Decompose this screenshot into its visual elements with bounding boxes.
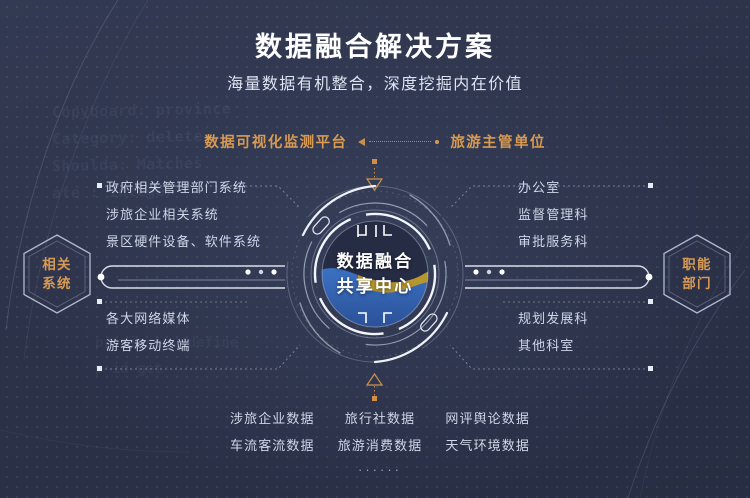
visualization-platform-label[interactable]: 数据可视化监测平台 [204, 131, 347, 152]
grid-cell[interactable]: 涉旅企业数据 [230, 405, 315, 432]
left-hexagon-node[interactable]: 相关 系统 [20, 232, 94, 316]
grid-cell[interactable]: 车流客流数据 [230, 432, 315, 459]
list-item[interactable]: 涉旅企业相关系统 [106, 201, 261, 228]
grid-cell[interactable]: 天气环境数据 [445, 432, 530, 459]
endpoint-dot-icon [435, 140, 439, 144]
list-item[interactable]: 游客移动终端 [106, 332, 191, 359]
list-item[interactable]: 各大网络媒体 [106, 305, 191, 332]
left-arrow-icon [358, 138, 365, 146]
hex-line-2: 部门 [682, 274, 711, 293]
grid-cell[interactable]: 旅行社数据 [345, 405, 416, 432]
list-item[interactable]: 监督管理科 [518, 201, 589, 228]
code-line: Copyboard: province [52, 93, 352, 126]
table-row: 车流客流数据 旅游消费数据 天气环境数据 [230, 432, 530, 459]
right-hexagon-text: 职能 部门 [660, 232, 734, 316]
center-line-2: 共享中心 [337, 274, 414, 299]
grid-cell[interactable]: 网评舆论数据 [445, 405, 530, 432]
grid-ellipsis: ······ [230, 462, 530, 477]
left-top-source-list: 政府相关管理部门系统 涉旅企业相关系统 景区硬件设备、软件系统 [106, 174, 261, 255]
list-item[interactable]: 办公室 [518, 174, 589, 201]
bottom-data-grid: 涉旅企业数据 旅行社数据 网评舆论数据 车流客流数据 旅游消费数据 天气环境数据… [230, 405, 530, 477]
infographic-canvas: Copyboard: province Category: delete, Sh… [0, 0, 750, 498]
dotted-line [369, 141, 431, 142]
list-item[interactable]: 规划发展科 [518, 305, 589, 332]
list-item[interactable]: 审批服务科 [518, 228, 589, 255]
page-subtitle: 海量数据有机整合，深度挖掘内在价值 [0, 70, 750, 94]
left-hexagon-text: 相关 系统 [20, 232, 94, 316]
top-connector [358, 138, 439, 146]
left-bottom-source-list: 各大网络媒体 游客移动终端 [106, 305, 191, 359]
data-fusion-center-node[interactable]: 数据融合 共享中心 [280, 163, 470, 385]
hex-line-1: 相关 [42, 255, 71, 274]
top-label-row: 数据可视化监测平台 旅游主管单位 [0, 131, 750, 152]
center-line-1: 数据融合 [337, 249, 414, 274]
hex-line-2: 系统 [42, 274, 71, 293]
list-item[interactable]: 其他科室 [518, 332, 589, 359]
list-item[interactable]: 景区硬件设备、软件系统 [106, 228, 261, 255]
tourism-authority-label[interactable]: 旅游主管单位 [450, 131, 545, 152]
hex-line-1: 职能 [682, 255, 711, 274]
center-label: 数据融合 共享中心 [280, 163, 470, 385]
page-title: 数据融合解决方案 [0, 25, 750, 64]
table-row: 涉旅企业数据 旅行社数据 网评舆论数据 [230, 405, 530, 432]
right-top-department-list: 办公室 监督管理科 审批服务科 [518, 174, 589, 255]
grid-cell[interactable]: 旅游消费数据 [338, 432, 423, 459]
right-bottom-department-list: 规划发展科 其他科室 [518, 305, 589, 359]
right-hexagon-node[interactable]: 职能 部门 [660, 232, 734, 316]
list-item[interactable]: 政府相关管理部门系统 [106, 174, 261, 201]
